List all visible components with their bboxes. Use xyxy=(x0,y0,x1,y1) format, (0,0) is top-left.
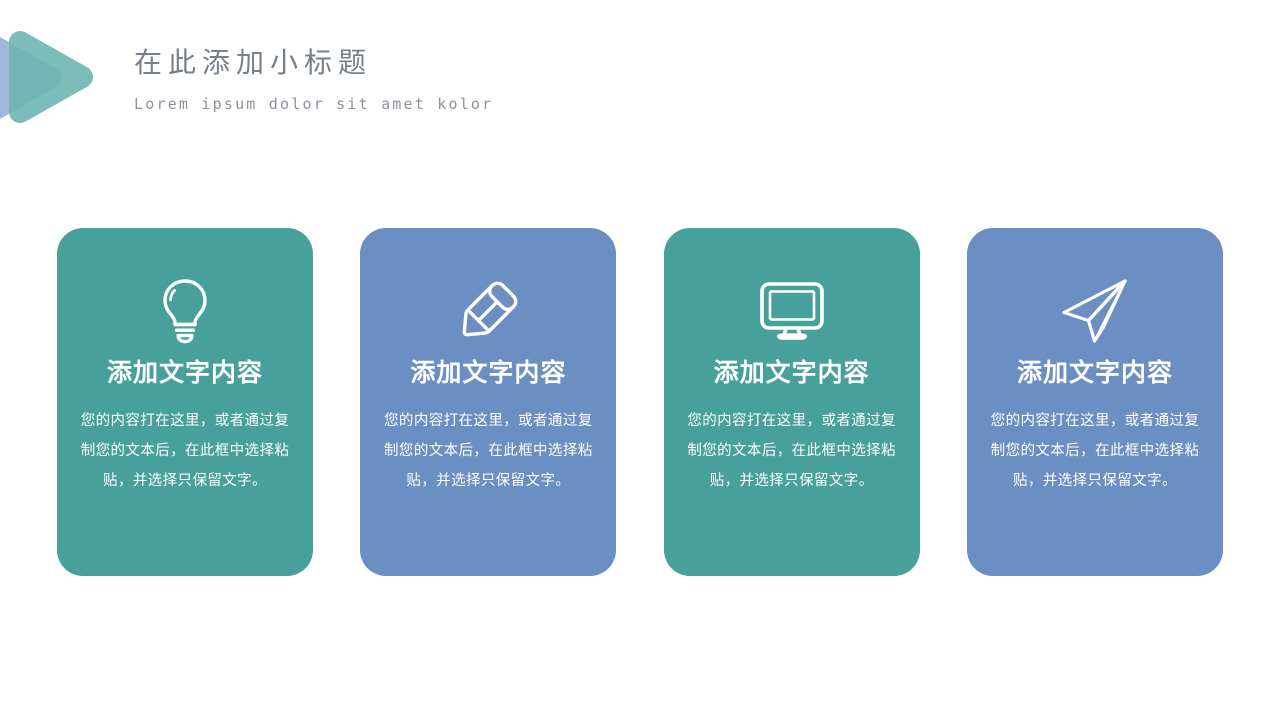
card-body-text: 您的内容打在这里，或者通过复制您的文本后，在此框中选择粘贴，并选择只保留文字。 xyxy=(377,406,599,496)
slide-header: 在此添加小标题 Lorem ipsum dolor sit amet kolor xyxy=(0,0,1280,150)
card-title: 添加文字内容 xyxy=(410,356,566,390)
lightbulb-icon xyxy=(146,272,224,350)
card-body-text: 您的内容打在这里，或者通过复制您的文本后，在此框中选择粘贴，并选择只保留文字。 xyxy=(74,406,296,496)
card-title: 添加文字内容 xyxy=(1017,356,1173,390)
feature-card-2[interactable]: 添加文字内容 您的内容打在这里，或者通过复制您的文本后，在此框中选择粘贴，并选择… xyxy=(360,228,616,576)
header-text-block: 在此添加小标题 Lorem ipsum dolor sit amet kolor xyxy=(134,44,834,114)
logo-front-triangle xyxy=(20,42,82,112)
page-title: 在此添加小标题 xyxy=(134,44,834,82)
feature-card-3[interactable]: 添加文字内容 您的内容打在这里，或者通过复制您的文本后，在此框中选择粘贴，并选择… xyxy=(664,228,920,576)
feature-card-1[interactable]: 添加文字内容 您的内容打在这里，或者通过复制您的文本后，在此框中选择粘贴，并选择… xyxy=(57,228,313,576)
card-title: 添加文字内容 xyxy=(107,356,263,390)
pencil-icon xyxy=(449,272,527,350)
feature-card-row: 添加文字内容 您的内容打在这里，或者通过复制您的文本后，在此框中选择粘贴，并选择… xyxy=(57,228,1223,576)
card-title: 添加文字内容 xyxy=(714,356,870,390)
play-triangle-logo xyxy=(0,22,114,132)
paper-plane-icon xyxy=(1056,272,1134,350)
card-body-text: 您的内容打在这里，或者通过复制您的文本后，在此框中选择粘贴，并选择只保留文字。 xyxy=(984,406,1206,496)
card-body-text: 您的内容打在这里，或者通过复制您的文本后，在此框中选择粘贴，并选择只保留文字。 xyxy=(681,406,903,496)
monitor-icon xyxy=(753,272,831,350)
page-subtitle: Lorem ipsum dolor sit amet kolor xyxy=(134,94,834,114)
feature-card-4[interactable]: 添加文字内容 您的内容打在这里，或者通过复制您的文本后，在此框中选择粘贴，并选择… xyxy=(967,228,1223,576)
